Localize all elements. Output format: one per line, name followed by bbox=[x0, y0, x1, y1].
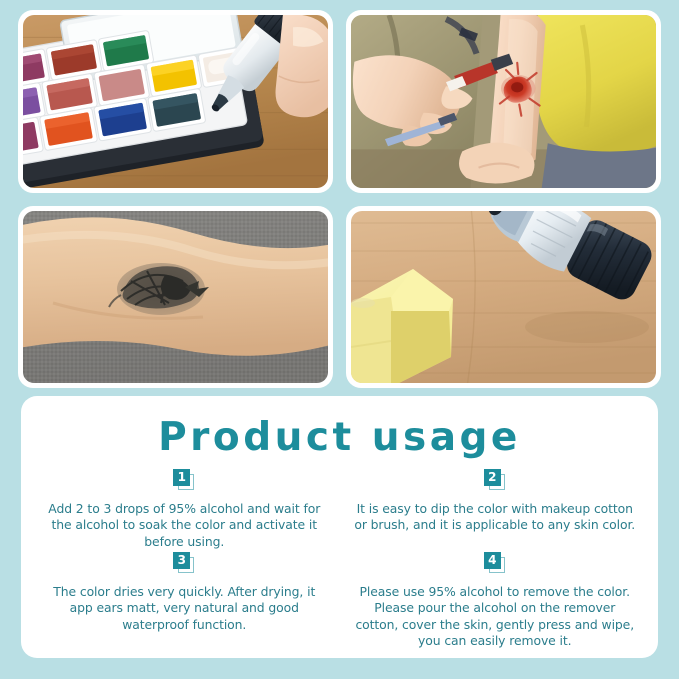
step-badge-1: 1 bbox=[171, 469, 197, 493]
photo-card-sponge-and-bottle: Yellow makeup sponge and alcohol dropper… bbox=[346, 206, 661, 388]
usage-step-2: 2 It is easy to dip the color with makeu… bbox=[348, 469, 643, 550]
photo-palette-dropper bbox=[23, 15, 328, 188]
wound-makeup-illustration bbox=[351, 15, 656, 188]
step-badge-3: 3 bbox=[171, 552, 197, 576]
step-number-4: 4 bbox=[484, 552, 501, 569]
infographic-page: Watercolor style body paint palette with… bbox=[0, 0, 679, 679]
product-usage-card: Product usage 1 Add 2 to 3 drops of 95% … bbox=[21, 396, 658, 658]
usage-step-1-text: Add 2 to 3 drops of 95% alcohol and wait… bbox=[41, 501, 328, 550]
usage-step-3: 3 The color dries very quickly. After dr… bbox=[37, 552, 332, 633]
photo-alt-tattoo-on-skin: Dark tattoo on a leg resting on gray car… bbox=[23, 383, 24, 384]
photo-alt-palette-dropper: Watercolor style body paint palette with… bbox=[23, 188, 24, 189]
sponge-bottle-illustration bbox=[351, 211, 656, 383]
usage-step-2-text: It is easy to dip the color with makeup … bbox=[352, 501, 639, 534]
photo-card-wound-makeup-arm: Hand applying simulated wound special ef… bbox=[346, 10, 661, 193]
step-badge-4: 4 bbox=[482, 552, 508, 576]
photo-card-palette-dropper: Watercolor style body paint palette with… bbox=[18, 10, 333, 193]
usage-step-3-text: The color dries very quickly. After dryi… bbox=[41, 584, 328, 633]
photo-alt-wound-makeup-arm: Hand applying simulated wound special ef… bbox=[351, 188, 352, 189]
photo-alt-sponge-and-bottle: Yellow makeup sponge and alcohol dropper… bbox=[351, 383, 352, 384]
page-title: Product usage bbox=[37, 418, 642, 459]
step-number-1: 1 bbox=[173, 469, 190, 486]
palette-dropper-illustration bbox=[23, 15, 328, 188]
usage-steps: 1 Add 2 to 3 drops of 95% alcohol and wa… bbox=[37, 469, 642, 650]
usage-step-1: 1 Add 2 to 3 drops of 95% alcohol and wa… bbox=[37, 469, 332, 550]
photo-sponge-and-bottle bbox=[351, 211, 656, 383]
photo-card-tattoo-on-skin: Dark tattoo on a leg resting on gray car… bbox=[18, 206, 333, 388]
step-number-2: 2 bbox=[484, 469, 501, 486]
step-number-3: 3 bbox=[173, 552, 190, 569]
step-badge-2: 2 bbox=[482, 469, 508, 493]
tattoo-illustration bbox=[23, 211, 328, 383]
photo-tattoo-on-skin bbox=[23, 211, 328, 383]
usage-step-4: 4 Please use 95% alcohol to remove the c… bbox=[348, 552, 643, 650]
photo-gallery: Watercolor style body paint palette with… bbox=[18, 10, 661, 388]
photo-wound-makeup-arm bbox=[351, 15, 656, 188]
usage-step-4-text: Please use 95% alcohol to remove the col… bbox=[352, 584, 639, 650]
